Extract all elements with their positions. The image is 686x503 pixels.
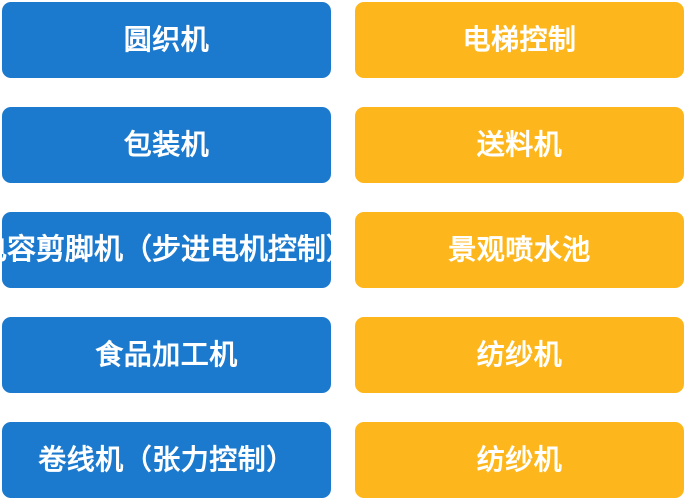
- app-button-label: 纺纱机: [477, 446, 563, 474]
- app-button-landscape-fountain[interactable]: 景观喷水池: [355, 212, 684, 288]
- app-button-winding-machine[interactable]: 卷线机（张力控制）: [2, 422, 331, 498]
- app-button-label: 景观喷水池: [448, 236, 591, 264]
- right-column: 电梯控制 送料机 景观喷水池 纺纱机 纺纱机: [355, 2, 684, 498]
- app-button-label: 食品加工机: [95, 341, 238, 369]
- app-button-spinning-machine-2[interactable]: 纺纱机: [355, 422, 684, 498]
- app-button-circular-loom[interactable]: 圆织机: [2, 2, 331, 78]
- app-button-label: 纺纱机: [477, 341, 563, 369]
- application-list-board: 圆织机 包装机 电容剪脚机（步进电机控制） 食品加工机 卷线机（张力控制） 电梯…: [0, 0, 686, 503]
- app-button-label: 包装机: [124, 131, 210, 159]
- app-button-label: 送料机: [477, 131, 563, 159]
- app-button-capacitor-lead-cutter[interactable]: 电容剪脚机（步进电机控制）: [2, 212, 331, 288]
- app-button-label: 卷线机（张力控制）: [38, 446, 295, 474]
- app-button-elevator-control[interactable]: 电梯控制: [355, 2, 684, 78]
- app-button-label: 电容剪脚机（步进电机控制）: [0, 236, 355, 265]
- app-button-feeder[interactable]: 送料机: [355, 107, 684, 183]
- left-column: 圆织机 包装机 电容剪脚机（步进电机控制） 食品加工机 卷线机（张力控制）: [2, 2, 331, 498]
- app-button-spinning-machine-1[interactable]: 纺纱机: [355, 317, 684, 393]
- app-button-food-processing-machine[interactable]: 食品加工机: [2, 317, 331, 393]
- app-button-label: 圆织机: [124, 26, 210, 54]
- app-button-label: 电梯控制: [462, 26, 576, 54]
- app-button-packing-machine[interactable]: 包装机: [2, 107, 331, 183]
